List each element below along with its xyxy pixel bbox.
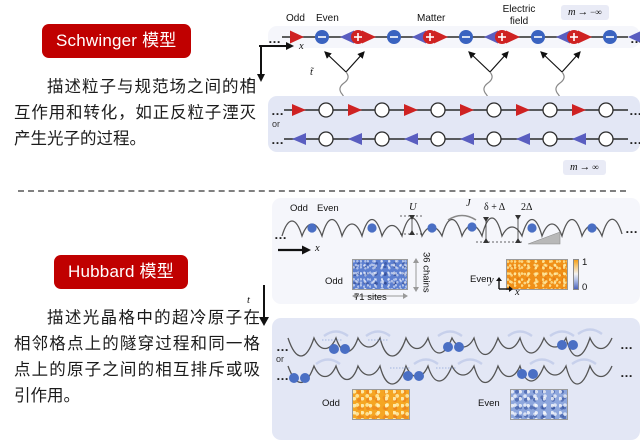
schwinger-t-axis-label: t [248,76,251,87]
hubbard-colorbar-max: 1 [582,258,587,268]
hubbard-x-axis-graphic-top [276,243,318,257]
hubbard-potential-curve-top [272,206,640,250]
schwinger-photon-graphic [268,46,640,102]
hubbard-ellipsis-left-row-b: … [276,369,290,382]
limit-bottom-arrow: → [578,162,593,173]
schwinger-ellipsis-left-row-a: … [271,104,285,117]
hubbard-odd-heatmap-label-bottom: Odd [322,399,340,409]
schwinger-ellipsis-left-row-b: … [271,133,285,146]
limit-top-symbol: m [568,7,576,18]
hubbard-y-axis-label: y [489,276,494,287]
hubbard-badge: Hubbard 模型 [54,255,188,289]
hubbard-sites-label: 71 sites [354,293,387,303]
schwinger-even-label: Even [316,14,339,24]
hubbard-xy-axes-graphic [496,277,514,293]
hubbard-odd-heatmap [352,259,408,290]
hubbard-x-axis-label-top: x [315,244,320,255]
schwinger-limit-top: m→−∞ [561,5,609,20]
hubbard-odd-heatmap-label: Odd [325,277,343,287]
hubbard-potential-curve-row-b [272,352,640,396]
schwinger-badge: Schwinger 模型 [42,24,191,58]
section-divider [18,190,626,192]
limit-bottom-value: ∞ [592,162,598,172]
hubbard-x-axis-label-heatmap: x [515,288,520,299]
hubbard-ellipsis-right-row-b: … [620,366,634,379]
hubbard-odd-heatmap-bottom [352,389,410,420]
schwinger-ellipsis-right-top: … [630,32,640,45]
hubbard-chains-label: 36 chains [421,252,431,293]
hubbard-ellipsis-right-top: … [625,222,639,235]
hubbard-colorbar-min: 0 [582,283,587,293]
hubbard-t-axis-label: t [247,296,250,307]
schwinger-ellipsis-right-row-a: … [629,104,640,117]
slide-canvas: Schwinger 模型 描述粒子与规范场之间的相互作用和转化，如正反粒子湮灭产… [0,0,640,444]
hubbard-colorbar [573,259,579,290]
schwinger-description: 描述粒子与规范场之间的相互作用和转化，如正反粒子湮灭产生光子的过程。 [14,74,256,152]
limit-bottom-symbol: m [570,162,578,173]
hubbard-even-heatmap [506,259,568,290]
schwinger-chain-top-graphic [268,26,640,48]
schwinger-ellipsis-right-row-b: … [629,133,640,146]
schwinger-odd-label: Odd [286,14,305,24]
hubbard-even-heatmap-bottom [510,389,568,420]
hubbard-ellipsis-right-row-a: … [620,338,634,351]
schwinger-or-label: or [272,120,280,129]
limit-top-value: −∞ [590,7,602,17]
hubbard-even-heatmap-label-bottom: Even [478,399,500,409]
limit-top-arrow: → [576,7,591,18]
hubbard-description: 描述光晶格中的超冷原子在相邻格点上的隧穿过程和同一格点上的原子之间的相互排斥或吸… [14,305,260,409]
schwinger-tunneling-label: t̃ [310,68,313,79]
schwinger-electric-field-label: Electric field [494,4,544,27]
hubbard-t-axis-graphic [256,283,272,327]
schwinger-limit-bottom: m→∞ [563,160,606,175]
schwinger-matter-label: Matter [417,14,445,24]
hubbard-ellipsis-left-top: … [274,228,288,241]
schwinger-chain-bottom-graphic [268,96,640,152]
